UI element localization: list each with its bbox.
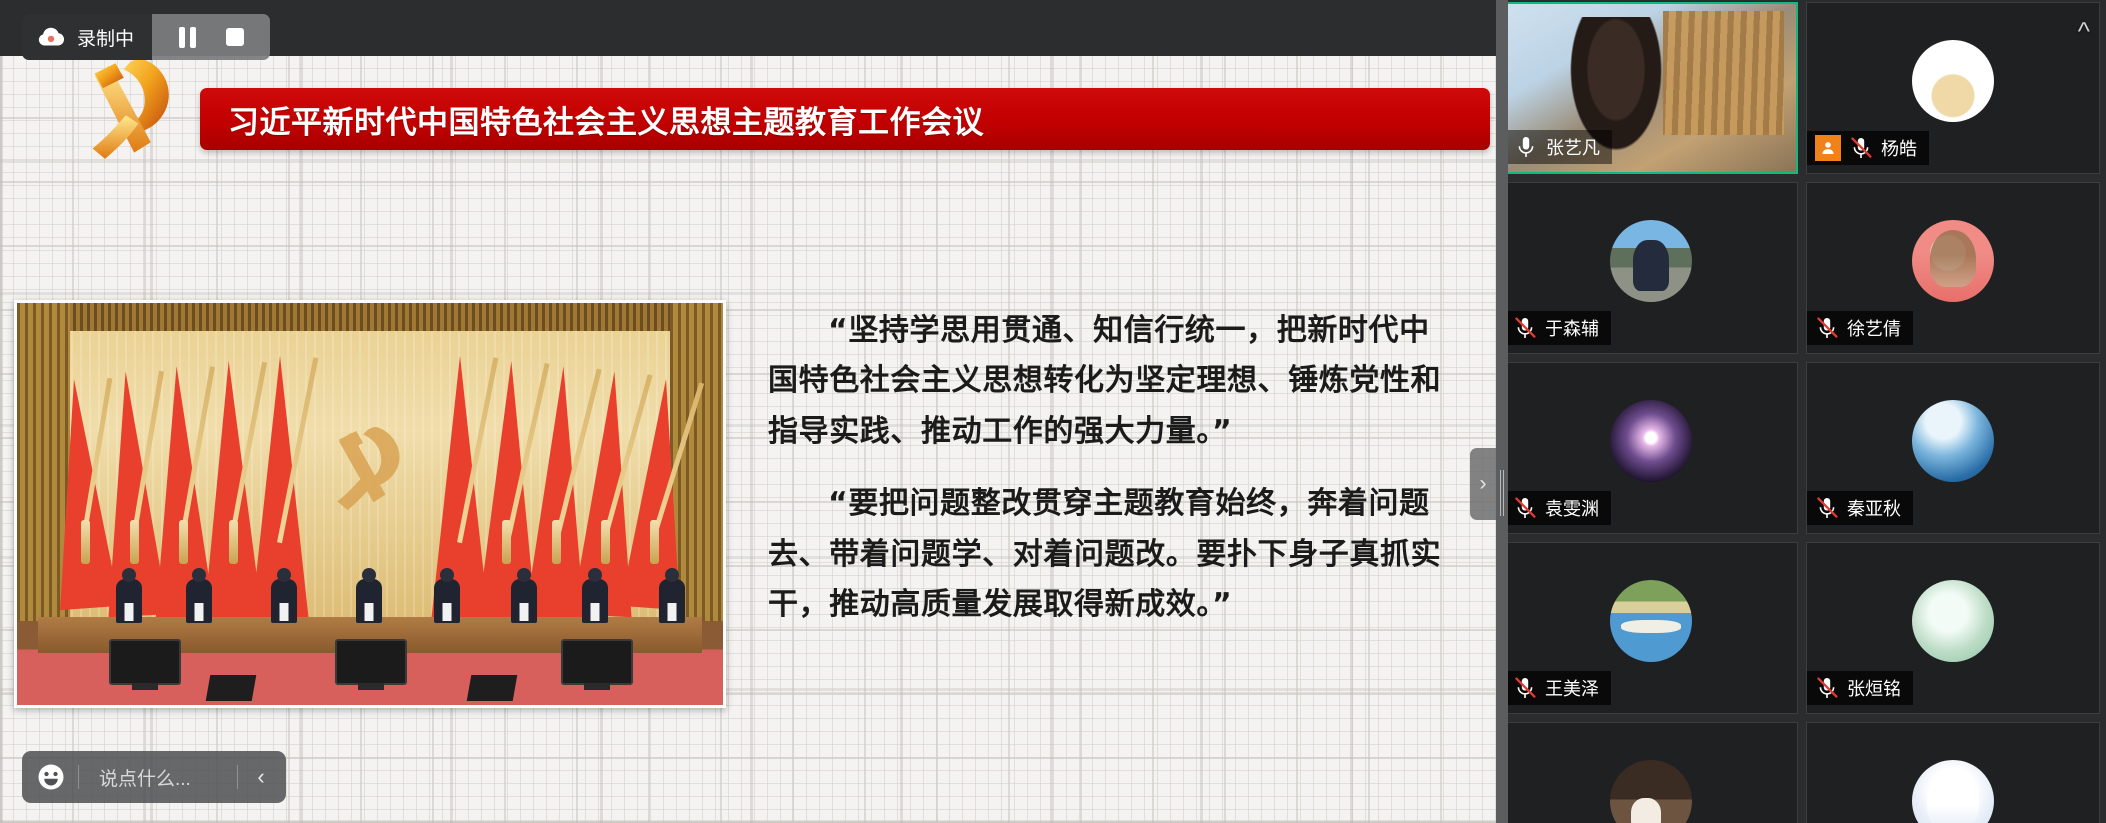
participant-name-chip: 张烜铭 bbox=[1807, 671, 1913, 705]
shared-slide-stage: 习近平新时代中国特色社会主义思想主题教育工作会议 bbox=[0, 0, 1496, 823]
participant-name: 徐艺倩 bbox=[1847, 315, 1901, 341]
smiley-face-glyph bbox=[36, 762, 66, 792]
participant-name: 杨皓 bbox=[1881, 135, 1917, 161]
participant-tile-法扬[interactable]: 法扬 bbox=[1504, 722, 1798, 823]
chevron-up-icon[interactable]: ^ bbox=[2078, 18, 2090, 44]
participant-name-chip: 袁雯渊 bbox=[1505, 491, 1611, 525]
person-icon bbox=[1820, 140, 1836, 156]
pause-recording-button[interactable] bbox=[166, 16, 208, 58]
avatar bbox=[1912, 760, 1994, 823]
cpc-hammer-sickle-emblem-icon bbox=[78, 52, 182, 168]
slide-title-row: 习近平新时代中国特色社会主义思想主题教育工作会议 bbox=[0, 62, 1496, 172]
participant-name: 张烜铭 bbox=[1847, 675, 1901, 701]
avatar bbox=[1610, 580, 1692, 662]
meeting-screen-share-window: 习近平新时代中国特色社会主义思想主题教育工作会议 bbox=[0, 0, 2106, 823]
recording-toolbar: 录制中 bbox=[22, 14, 270, 60]
conference-photo bbox=[14, 300, 726, 708]
stop-recording-button[interactable] bbox=[214, 16, 256, 58]
mic-on-icon bbox=[1514, 135, 1538, 159]
participant-tile-于森辅[interactable]: 于森辅 bbox=[1504, 182, 1798, 354]
avatar bbox=[1912, 220, 1994, 302]
page-title: 习近平新时代中国特色社会主义思想主题教育工作会议 bbox=[200, 97, 984, 142]
avatar bbox=[1610, 220, 1692, 302]
avatar bbox=[1912, 400, 1994, 482]
participant-name-chip: 秦亚秋 bbox=[1807, 491, 1913, 525]
resize-grip-lines bbox=[1499, 470, 1505, 516]
chevron-left-icon[interactable]: ‹ bbox=[242, 754, 280, 800]
mic-muted-icon bbox=[1513, 676, 1537, 700]
mic-muted-icon bbox=[1815, 316, 1839, 340]
composer-divider-left bbox=[78, 765, 79, 789]
chat-input[interactable]: 说点什么... bbox=[83, 764, 233, 791]
recording-status: 录制中 bbox=[22, 14, 152, 60]
participant-tile-徐艺倩[interactable]: 徐艺倩 bbox=[1806, 182, 2100, 354]
mic-muted-icon bbox=[1849, 136, 1873, 160]
recording-label: 录制中 bbox=[77, 24, 134, 51]
quote-paragraph-2: “要把问题整改贯穿主题教育始终，奔着问题去、带着问题学、对着问题改。要扑下身子真… bbox=[768, 479, 1452, 630]
participant-tile-秦亚秋[interactable]: 秦亚秋 bbox=[1806, 362, 2100, 534]
participants-panel: ^ 张艺凡杨皓于森辅徐艺倩袁雯渊秦亚秋王美泽张烜铭法扬马子钰 bbox=[1496, 0, 2106, 823]
participant-tile-张艺凡[interactable]: 张艺凡 bbox=[1504, 2, 1798, 174]
participant-tile-王美泽[interactable]: 王美泽 bbox=[1504, 542, 1798, 714]
participant-tile-张烜铭[interactable]: 张烜铭 bbox=[1806, 542, 2100, 714]
recording-controls bbox=[152, 14, 270, 60]
quote-paragraph-1: “坚持学思用贯通、知信行统一，把新时代中国特色社会主义思想转化为坚定理想、锤炼党… bbox=[768, 306, 1452, 457]
avatar bbox=[1610, 400, 1692, 482]
slide-quotes: “坚持学思用贯通、知信行统一，把新时代中国特色社会主义思想转化为坚定理想、锤炼党… bbox=[726, 300, 1496, 740]
slide-title-banner: 习近平新时代中国特色社会主义思想主题教育工作会议 bbox=[200, 88, 1490, 150]
slide-body: “坚持学思用贯通、知信行统一，把新时代中国特色社会主义思想转化为坚定理想、锤炼党… bbox=[0, 300, 1496, 740]
smiley-face-icon[interactable] bbox=[28, 754, 74, 800]
avatar bbox=[1912, 580, 1994, 662]
participant-name-chip: 杨皓 bbox=[1807, 131, 1929, 165]
composer-divider-right bbox=[237, 765, 238, 789]
participant-tile-杨皓[interactable]: 杨皓 bbox=[1806, 2, 2100, 174]
collapse-participants-panel-button[interactable]: › bbox=[1470, 448, 1496, 520]
mic-muted-icon bbox=[1513, 496, 1537, 520]
mic-muted-icon bbox=[1513, 316, 1537, 340]
participant-name-chip: 张艺凡 bbox=[1506, 130, 1612, 164]
chat-composer[interactable]: 说点什么... ‹ bbox=[22, 751, 286, 803]
participant-name-chip: 于森辅 bbox=[1505, 311, 1611, 345]
participant-tile-马子钰[interactable]: 马子钰 bbox=[1806, 722, 2100, 823]
host-badge bbox=[1815, 135, 1841, 161]
participant-name-chip: 徐艺倩 bbox=[1807, 311, 1913, 345]
cloud-recording-icon bbox=[36, 26, 66, 48]
photo-cpc-emblem-icon bbox=[327, 420, 413, 516]
participant-name: 于森辅 bbox=[1545, 315, 1599, 341]
avatar bbox=[1912, 40, 1994, 122]
participant-name: 王美泽 bbox=[1545, 675, 1599, 701]
participant-name: 张艺凡 bbox=[1546, 134, 1600, 160]
mic-muted-icon bbox=[1815, 496, 1839, 520]
panel-resize-handle[interactable] bbox=[1496, 0, 1508, 823]
chevron-right-icon: › bbox=[1480, 472, 1487, 496]
mic-muted-icon bbox=[1815, 676, 1839, 700]
participant-name: 袁雯渊 bbox=[1545, 495, 1599, 521]
participant-name: 秦亚秋 bbox=[1847, 495, 1901, 521]
avatar bbox=[1610, 760, 1692, 823]
participant-tile-grid: 张艺凡杨皓于森辅徐艺倩袁雯渊秦亚秋王美泽张烜铭法扬马子钰 bbox=[1496, 0, 2106, 823]
pause-icon bbox=[179, 27, 196, 48]
stop-icon bbox=[226, 28, 244, 46]
participant-tile-袁雯渊[interactable]: 袁雯渊 bbox=[1504, 362, 1798, 534]
participant-name-chip: 王美泽 bbox=[1505, 671, 1611, 705]
